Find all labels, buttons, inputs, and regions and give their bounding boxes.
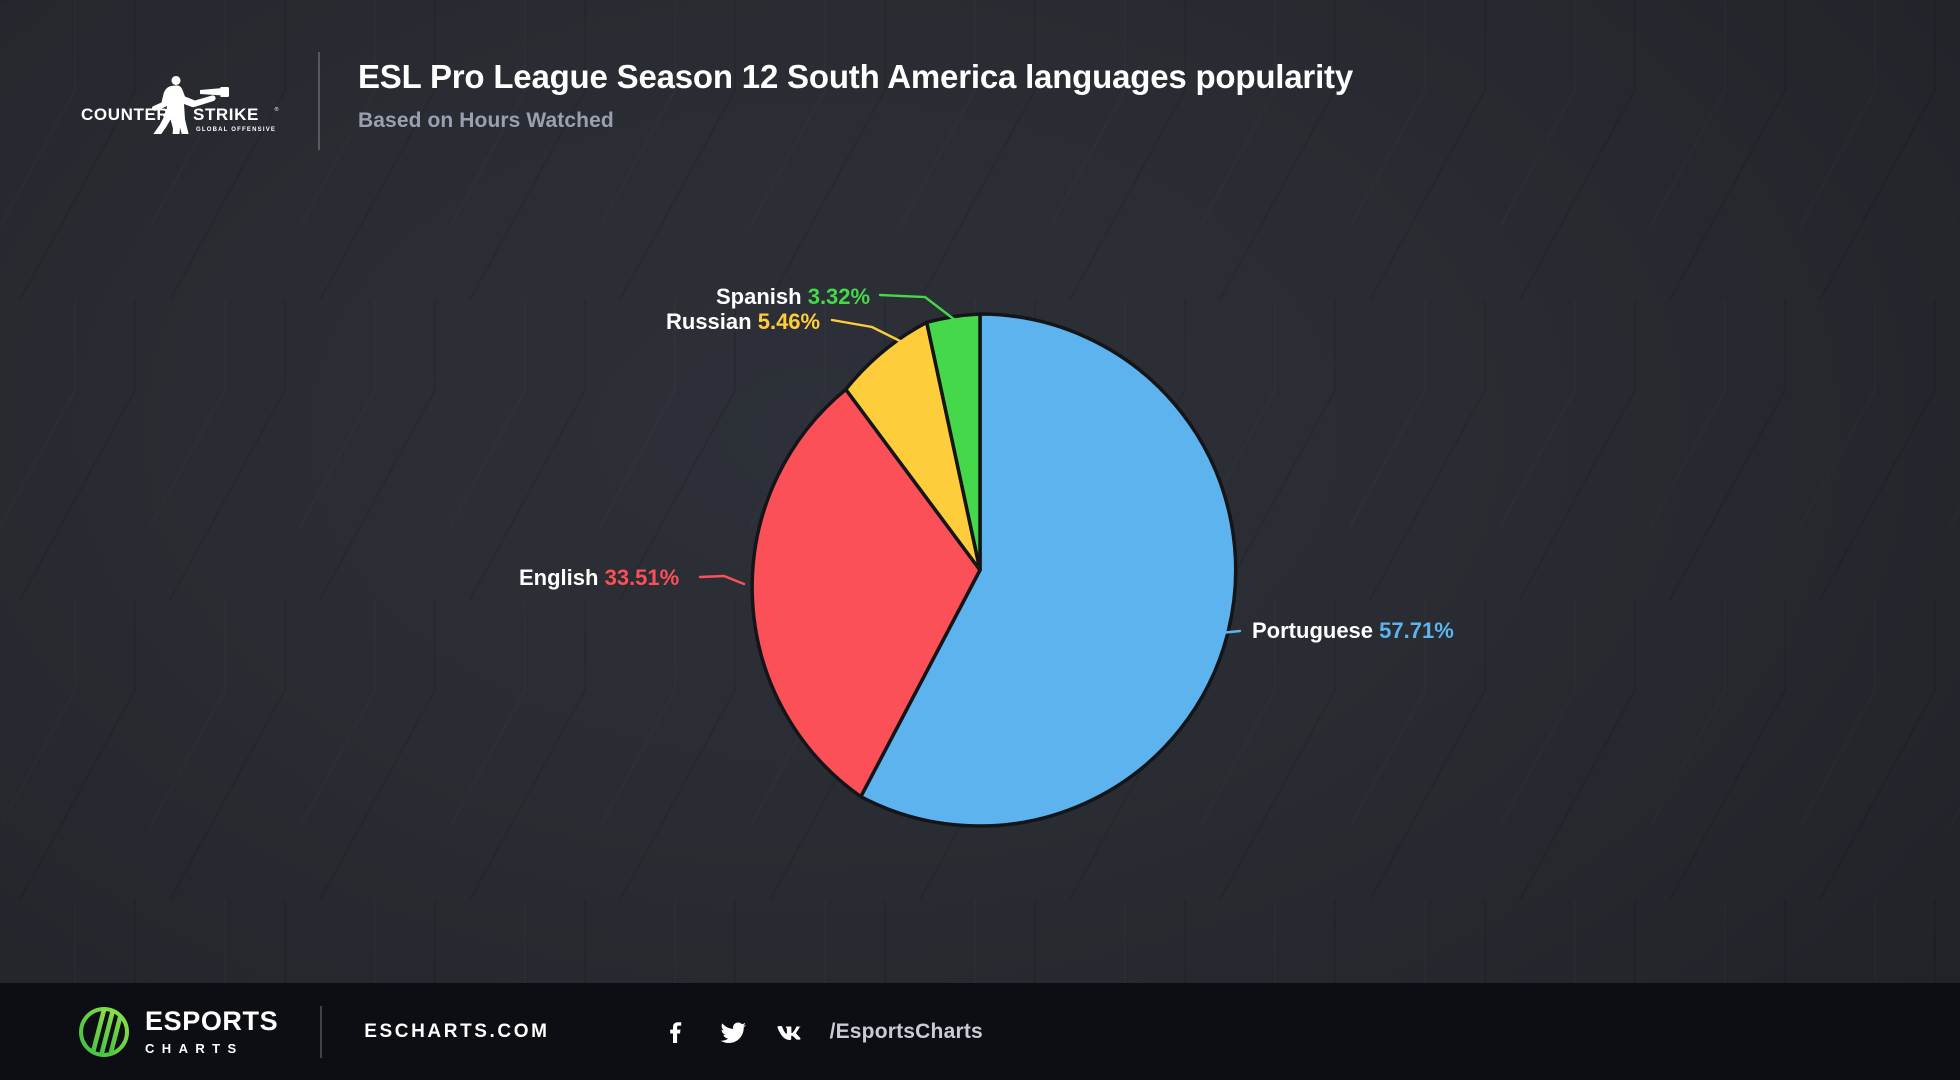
- svg-text:®: ®: [275, 106, 279, 113]
- esports-charts-wordmark: ESPORTS CHARTS: [145, 1008, 278, 1055]
- pie-label-russian-name: Russian: [666, 309, 752, 334]
- pie-label-russian: Russian 5.46%: [666, 311, 820, 333]
- footer-divider: [320, 1006, 322, 1058]
- pie-slices: [752, 314, 1236, 826]
- pie-label-english-value: 33.51%: [605, 565, 680, 590]
- pie-label-english: English 33.51%: [519, 567, 679, 589]
- leader-line-spanish: [880, 295, 955, 320]
- page-subtitle: Based on Hours Watched: [358, 109, 1353, 133]
- counter-strike-global-offensive-logo: COUNTER STRIKE ® GLOBAL OFFENSIVE: [78, 72, 283, 134]
- pie-label-portuguese: Portuguese 57.71%: [1252, 620, 1454, 642]
- pie-label-russian-value: 5.46%: [758, 309, 820, 334]
- svg-text:STRIKE: STRIKE: [193, 105, 259, 124]
- pie-label-portuguese-value: 57.71%: [1379, 618, 1454, 643]
- leader-line-english: [700, 576, 744, 584]
- facebook-icon[interactable]: [662, 1017, 692, 1047]
- header-divider: [318, 52, 320, 150]
- pie-label-portuguese-name: Portuguese: [1252, 618, 1373, 643]
- esports-charts-brand-secondary: CHARTS: [145, 1042, 278, 1055]
- leader-line-russian: [832, 320, 900, 341]
- pie-chart-svg: [0, 155, 1960, 975]
- pie-label-spanish: Spanish 3.32%: [716, 286, 870, 308]
- footer-site-url[interactable]: ESCHARTS.COM: [364, 1021, 549, 1043]
- esports-charts-logo[interactable]: ESPORTS CHARTS: [78, 1006, 278, 1058]
- svg-text:GLOBAL OFFENSIVE: GLOBAL OFFENSIVE: [196, 127, 276, 133]
- header: COUNTER STRIKE ® GLOBAL OFFENSIVE ESL Pr…: [0, 0, 1960, 180]
- chart-canvas: COUNTER STRIKE ® GLOBAL OFFENSIVE ESL Pr…: [0, 0, 1960, 1080]
- vk-icon[interactable]: [774, 1017, 804, 1047]
- footer-social-links: [662, 1017, 804, 1047]
- twitter-icon[interactable]: [718, 1017, 748, 1047]
- footer-social-handle: /EsportsCharts: [830, 1020, 983, 1044]
- esports-charts-mark-icon: [78, 1006, 130, 1058]
- pie-label-english-name: English: [519, 565, 598, 590]
- pie-chart: Spanish 3.32% Russian 5.46% English 33.5…: [0, 155, 1960, 975]
- esports-charts-brand-primary: ESPORTS: [145, 1008, 278, 1035]
- pie-label-spanish-name: Spanish: [716, 284, 802, 309]
- page-title: ESL Pro League Season 12 South America l…: [358, 58, 1353, 96]
- header-text-block: ESL Pro League Season 12 South America l…: [358, 58, 1353, 133]
- pie-label-spanish-value: 3.32%: [808, 284, 870, 309]
- footer: ESPORTS CHARTS ESCHARTS.COM /EsportsChar…: [0, 983, 1960, 1080]
- svg-text:COUNTER: COUNTER: [81, 105, 169, 124]
